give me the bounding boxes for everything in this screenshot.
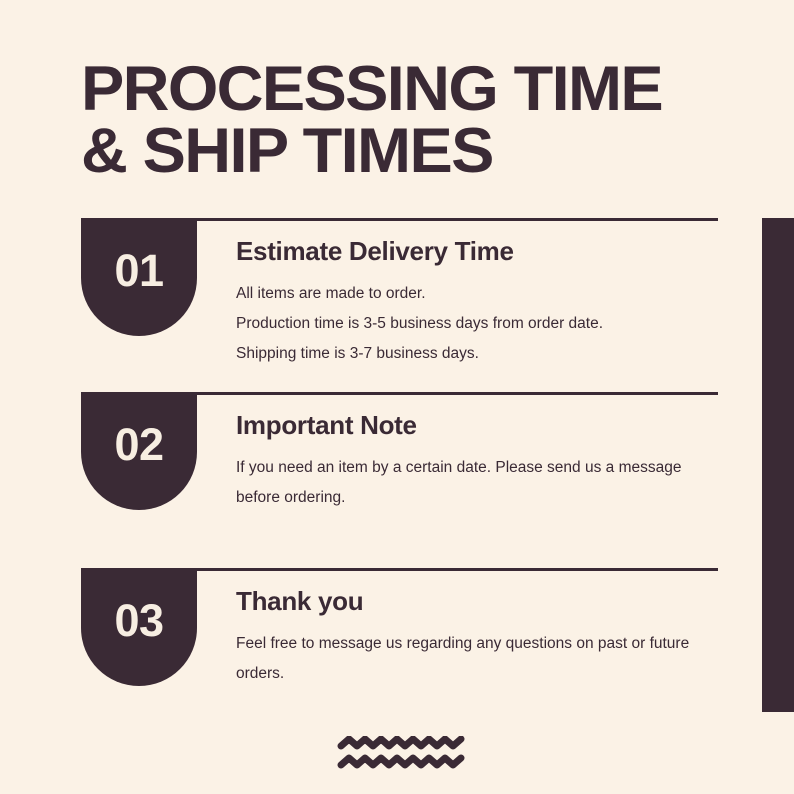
section-heading-01: Estimate Delivery Time [236,236,721,266]
section-text-02-line-1: If you need an item by a certain date. P… [236,453,691,513]
section-divider-01 [197,218,718,221]
section-heading-02: Important Note [236,410,721,440]
page-title-line-2: & SHIP TIMES [81,120,740,182]
section-badge-01: 01 [81,218,197,336]
section-text-01-line-2: Production time is 3-5 business days fro… [236,309,721,339]
processing-time-poster: PROCESSING TIME & SHIP TIMES 01 Estimate… [0,0,794,794]
section-number-02: 02 [114,422,163,467]
section-divider-02 [197,392,718,395]
double-zigzag-wave-icon [337,736,465,770]
section-divider-03 [197,568,718,571]
section-heading-03: Thank you [236,586,721,616]
section-number-03: 03 [114,598,163,643]
section-content-03: Thank you Feel free to message us regard… [236,586,721,689]
section-badge-03: 03 [81,568,197,686]
section-number-01: 01 [114,248,163,293]
right-edge-bar [762,218,794,712]
section-badge-02: 02 [81,392,197,510]
section-text-01-line-3: Shipping time is 3-7 business days. [236,339,721,369]
section-text-01-line-1: All items are made to order. [236,279,721,309]
section-content-02: Important Note If you need an item by a … [236,410,721,513]
page-title-line-1: PROCESSING TIME [81,58,740,120]
section-text-03-line-1: Feel free to message us regarding any qu… [236,629,723,689]
section-content-01: Estimate Delivery Time All items are mad… [236,236,721,369]
page-title: PROCESSING TIME & SHIP TIMES [81,58,721,182]
